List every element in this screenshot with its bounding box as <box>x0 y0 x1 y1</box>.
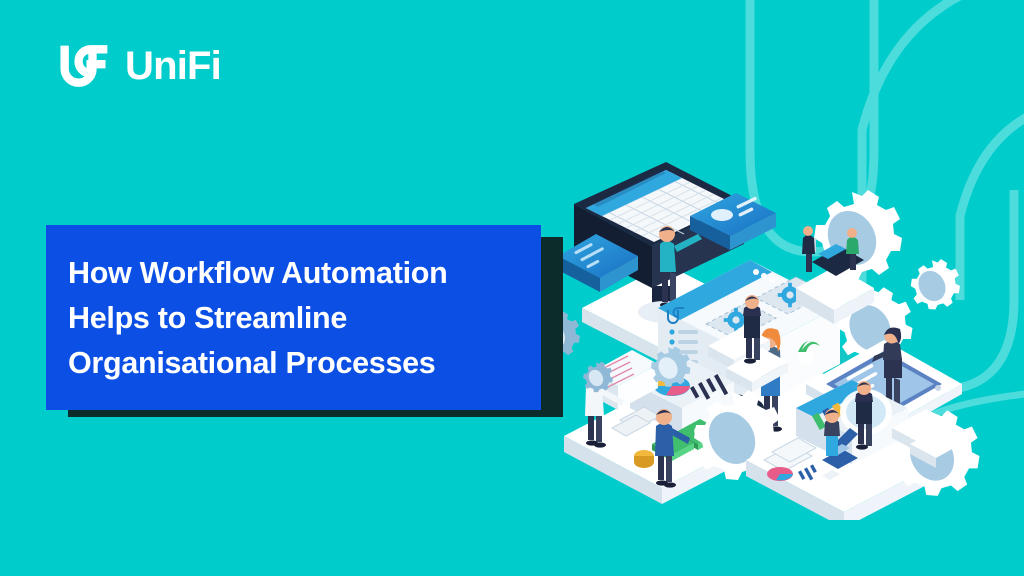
page-title: How Workflow Automation Helps to Streaml… <box>68 251 519 386</box>
headline-line-3: Organisational Processes <box>68 341 519 386</box>
small-person-a <box>802 226 815 272</box>
headline-line-1: How Workflow Automation <box>68 251 519 296</box>
logo[interactable]: UniFi <box>60 40 221 92</box>
headline-line-2: Helps to Streamline <box>68 296 519 341</box>
isometric-workflow-illustration <box>540 160 1024 520</box>
logo-text: UniFi <box>125 46 221 86</box>
headline-box: How Workflow Automation Helps to Streaml… <box>46 225 541 410</box>
banner-root: UniFi How Workflow Automation Helps to S… <box>0 0 1024 576</box>
unifi-monogram-icon <box>60 40 112 92</box>
headline-block: How Workflow Automation Helps to Streaml… <box>46 225 541 410</box>
